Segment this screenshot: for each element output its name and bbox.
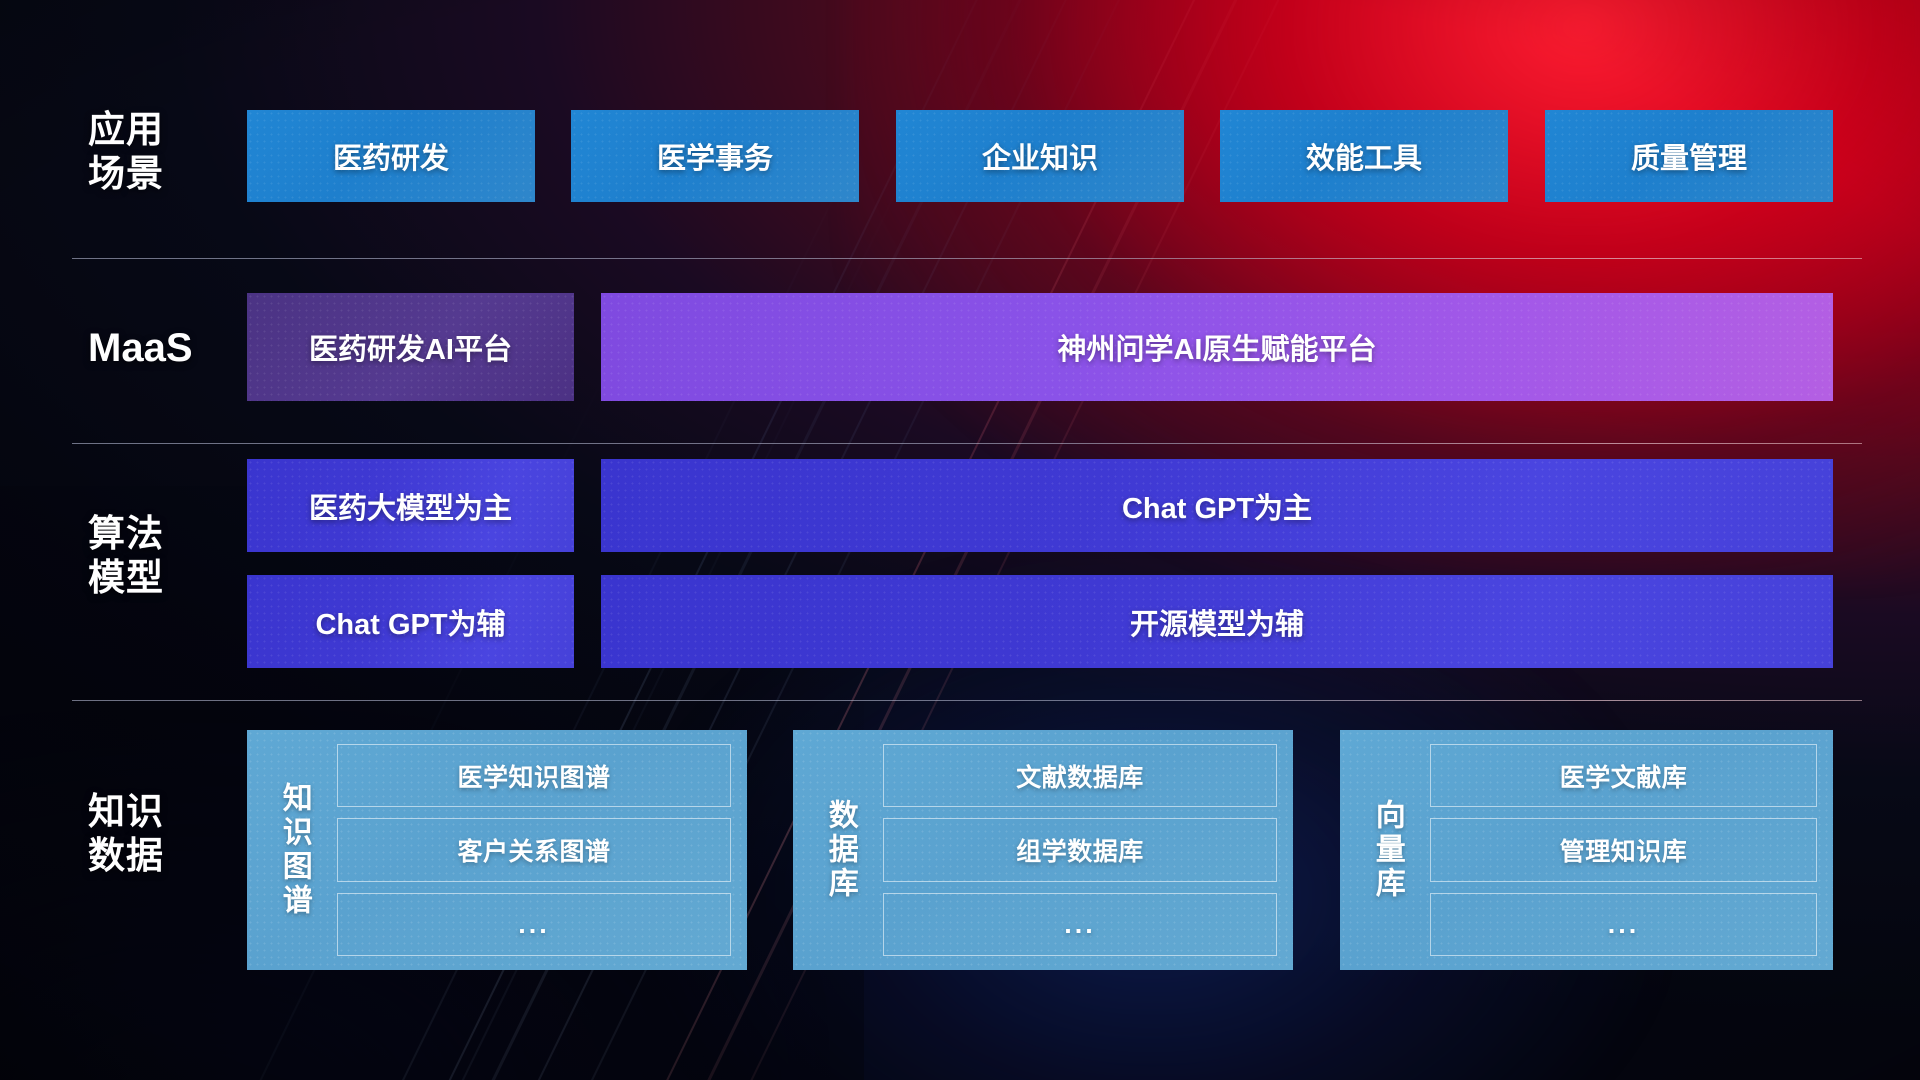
row-label-line-2: 模型 bbox=[88, 556, 238, 600]
row-label-application-scenarios: 应用 场景 bbox=[88, 108, 238, 195]
row-label-line-1: 知识 bbox=[88, 790, 238, 834]
algo-cell-chatgpt-primary[interactable]: Chat GPT为主 bbox=[601, 459, 1833, 552]
knowledge-panel-title: 向量库 bbox=[1354, 744, 1420, 956]
architecture-diagram: 应用 场景 医药研发 医学事务 企业知识 效能工具 质量管理 MaaS 医药研发… bbox=[0, 0, 1920, 1080]
knowledge-item-medical-literature-store[interactable]: 医学文献库 bbox=[1430, 744, 1817, 807]
scenario-cell-medical-affairs[interactable]: 医学事务 bbox=[571, 110, 859, 202]
row-label-line-1: 应用 bbox=[88, 108, 238, 152]
row-label-line-2: 场景 bbox=[88, 152, 238, 196]
knowledge-panel-title: 数据库 bbox=[807, 744, 873, 956]
scenario-cell-quality-management[interactable]: 质量管理 bbox=[1545, 110, 1833, 202]
knowledge-item-management-knowledge-store[interactable]: 管理知识库 bbox=[1430, 818, 1817, 881]
knowledge-panel-vector-store[interactable]: 向量库 医学文献库 管理知识库 ... bbox=[1340, 730, 1833, 970]
knowledge-item-more[interactable]: ... bbox=[1430, 893, 1817, 956]
maas-cell-shenzhou-wenxue-platform[interactable]: 神州问学AI原生赋能平台 bbox=[601, 293, 1833, 401]
divider-after-algorithm-models bbox=[72, 700, 1862, 701]
knowledge-panel-item-list: 医学文献库 管理知识库 ... bbox=[1420, 744, 1817, 956]
knowledge-item-more[interactable]: ... bbox=[337, 893, 731, 956]
knowledge-panel-item-list: 文献数据库 组学数据库 ... bbox=[873, 744, 1277, 956]
algo-cell-pharma-large-model-primary[interactable]: 医药大模型为主 bbox=[247, 459, 574, 552]
knowledge-panel-knowledge-graph[interactable]: 知识图谱 医学知识图谱 客户关系图谱 ... bbox=[247, 730, 747, 970]
scenario-cell-enterprise-knowledge[interactable]: 企业知识 bbox=[896, 110, 1184, 202]
knowledge-item-omics-database[interactable]: 组学数据库 bbox=[883, 818, 1277, 881]
row-label-knowledge-data: 知识 数据 bbox=[88, 790, 238, 877]
scenario-cell-efficiency-tools[interactable]: 效能工具 bbox=[1220, 110, 1508, 202]
knowledge-item-medical-knowledge-graph[interactable]: 医学知识图谱 bbox=[337, 744, 731, 807]
row-label-line-2: 数据 bbox=[88, 834, 238, 878]
maas-cell-pharma-ai-platform[interactable]: 医药研发AI平台 bbox=[247, 293, 574, 401]
algo-cell-chatgpt-secondary[interactable]: Chat GPT为辅 bbox=[247, 575, 574, 668]
knowledge-panel-item-list: 医学知识图谱 客户关系图谱 ... bbox=[327, 744, 731, 956]
row-label-line-1: 算法 bbox=[88, 512, 238, 556]
knowledge-panel-database[interactable]: 数据库 文献数据库 组学数据库 ... bbox=[793, 730, 1293, 970]
scenario-cell-pharma-rd[interactable]: 医药研发 bbox=[247, 110, 535, 202]
algo-cell-opensource-model-secondary[interactable]: 开源模型为辅 bbox=[601, 575, 1833, 668]
knowledge-item-customer-relation-graph[interactable]: 客户关系图谱 bbox=[337, 818, 731, 881]
knowledge-item-literature-database[interactable]: 文献数据库 bbox=[883, 744, 1277, 807]
knowledge-item-more[interactable]: ... bbox=[883, 893, 1277, 956]
divider-after-application-scenarios bbox=[72, 258, 1862, 259]
knowledge-panel-title: 知识图谱 bbox=[261, 744, 327, 956]
divider-after-maas bbox=[72, 443, 1862, 444]
row-label-maas: MaaS bbox=[88, 325, 238, 372]
row-label-algorithm-models: 算法 模型 bbox=[88, 512, 238, 599]
